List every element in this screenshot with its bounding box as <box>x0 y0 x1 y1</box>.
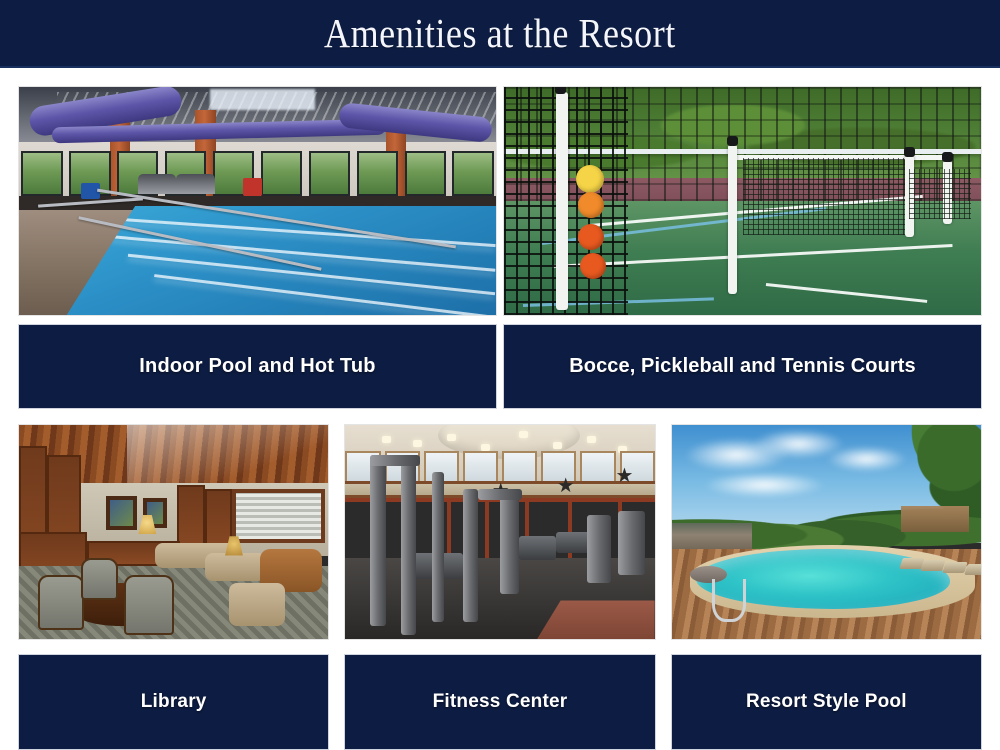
page-title: Amenities at the Resort <box>324 9 676 57</box>
caption-library: Library <box>18 654 329 750</box>
amenity-card-courts[interactable]: Bocce, Pickleball and Tennis Courts <box>503 86 982 409</box>
photo-indoor-pool[interactable] <box>18 86 497 316</box>
caption-fitness-center: Fitness Center <box>344 654 655 750</box>
caption-indoor-pool: Indoor Pool and Hot Tub <box>18 324 497 409</box>
library-scene <box>19 425 328 639</box>
photo-resort-pool[interactable] <box>671 424 982 640</box>
amenity-card-library[interactable]: Library <box>18 424 329 750</box>
courts-scene <box>504 87 981 315</box>
caption-resort-pool: Resort Style Pool <box>671 654 982 750</box>
caption-courts: Bocce, Pickleball and Tennis Courts <box>503 324 982 409</box>
page-header: Amenities at the Resort <box>0 0 1000 68</box>
photo-courts[interactable] <box>503 86 982 316</box>
amenity-row-bottom: Library <box>18 424 982 750</box>
star-emblem-icon: ★ <box>556 476 576 496</box>
amenity-card-resort-pool[interactable]: Resort Style Pool <box>671 424 982 750</box>
fitness-center-scene: ★ ★ ★ <box>345 425 654 639</box>
amenity-row-top: Indoor Pool and Hot Tub <box>18 86 982 409</box>
amenity-card-fitness-center[interactable]: ★ ★ ★ <box>344 424 655 750</box>
resort-pool-scene <box>672 425 981 639</box>
photo-library[interactable] <box>18 424 329 640</box>
indoor-pool-scene <box>19 87 496 315</box>
photo-fitness-center[interactable]: ★ ★ ★ <box>344 424 655 640</box>
star-emblem-icon: ★ <box>614 466 634 486</box>
amenity-grid: Indoor Pool and Hot Tub <box>0 68 1000 750</box>
amenity-card-indoor-pool[interactable]: Indoor Pool and Hot Tub <box>18 86 497 409</box>
